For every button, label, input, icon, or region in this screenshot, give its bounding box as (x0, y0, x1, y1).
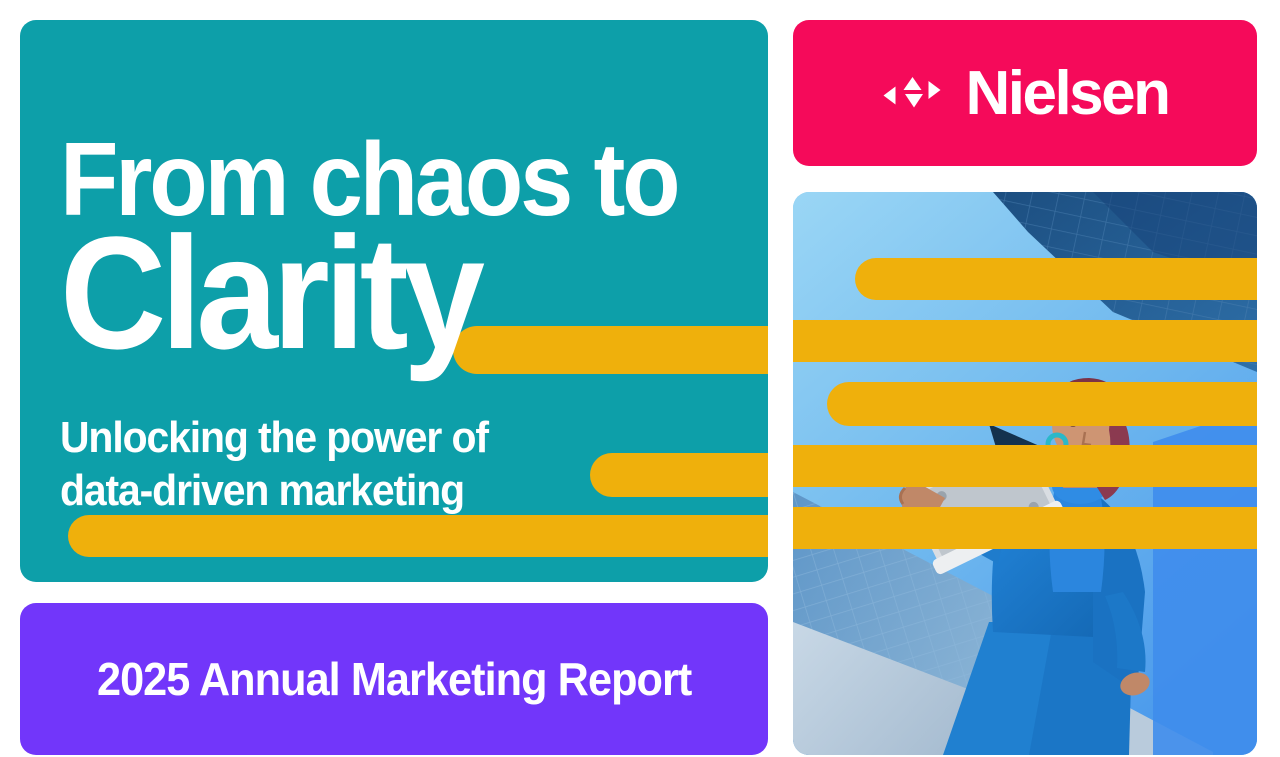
photo-stripe-4 (793, 445, 1257, 487)
brand-name: Nielsen (965, 58, 1168, 129)
report-title-label: 2025 Annual Marketing Report (97, 652, 691, 706)
hero-photo-card (793, 192, 1257, 755)
headline-line-2: Clarity (60, 223, 704, 364)
photo-stripe-3 (827, 382, 1257, 426)
page-title: From chaos toClarity (60, 132, 704, 365)
brand-panel: Nielsen (793, 20, 1257, 166)
photo-stripe-1 (855, 258, 1257, 300)
page-subtitle: Unlocking the power of data-driven marke… (60, 412, 637, 518)
photo-stripe-group (793, 192, 1257, 755)
report-title-banner: 2025 Annual Marketing Report (20, 603, 768, 755)
photo-stripe-2 (793, 320, 1257, 362)
hero-text-block: From chaos toClarity Unlocking the power… (20, 20, 768, 582)
photo-stripe-5 (793, 507, 1257, 549)
hero-panel: From chaos toClarity Unlocking the power… (20, 20, 768, 582)
report-cover: From chaos toClarity Unlocking the power… (0, 0, 1280, 757)
nielsen-logo-icon (881, 73, 943, 113)
